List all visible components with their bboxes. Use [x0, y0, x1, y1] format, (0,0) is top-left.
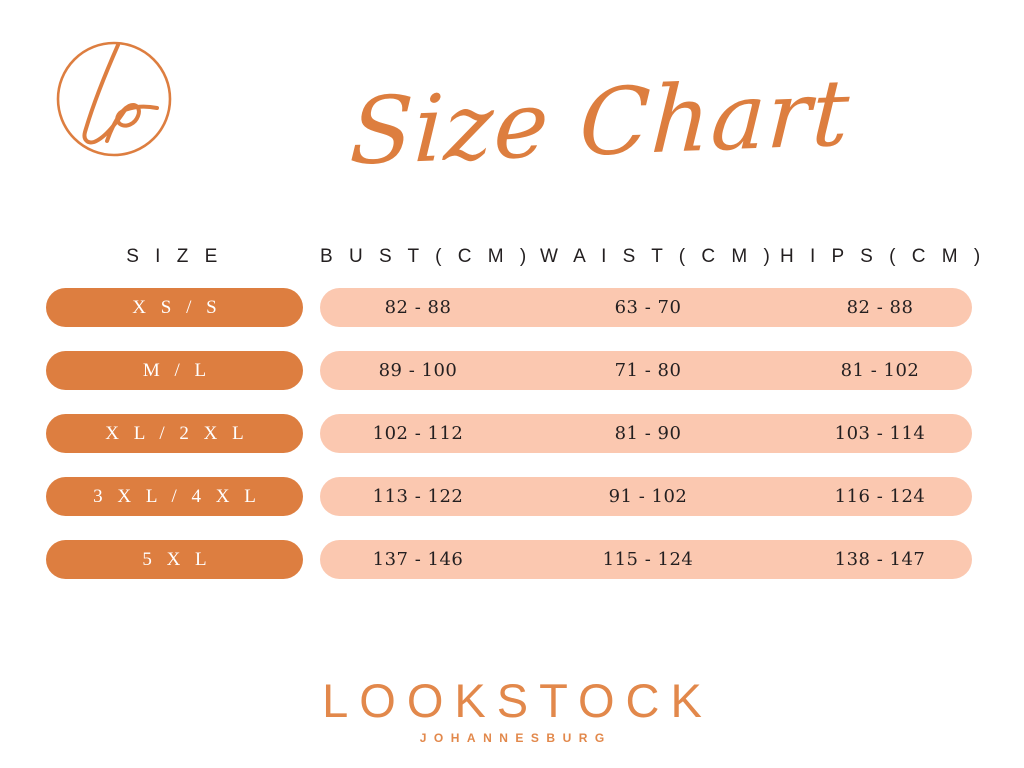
table-row: X L / 2 X L 102 - 112 81 - 90 103 - 114 — [0, 414, 1024, 477]
size-label: M / L — [138, 360, 211, 382]
size-pill: 3 X L / 4 X L — [46, 477, 303, 516]
waist-value: 81 - 90 — [550, 414, 746, 453]
size-label: X S / S — [127, 297, 221, 319]
waist-value: 115 - 124 — [550, 540, 746, 579]
hips-value: 116 - 124 — [782, 477, 978, 516]
bust-value: 113 - 122 — [320, 477, 516, 516]
size-label: 3 X L / 4 X L — [88, 486, 261, 508]
bust-value: 82 - 88 — [320, 288, 516, 327]
brand-location: JOHANNESBURG — [0, 731, 1024, 745]
size-chart-table: S I Z E B U S T ( C M ) W A I S T ( C M … — [0, 236, 1024, 603]
waist-value: 91 - 102 — [550, 477, 746, 516]
circle-monogram-lo-icon — [55, 40, 173, 158]
brand-wordmark: LOOKSTOCK — [0, 676, 1024, 725]
hips-value: 82 - 88 — [782, 288, 978, 327]
size-pill: 5 X L — [46, 540, 303, 579]
table-row: 3 X L / 4 X L 113 - 122 91 - 102 116 - 1… — [0, 477, 1024, 540]
footer: LOOKSTOCK JOHANNESBURG — [0, 676, 1024, 745]
table-row: M / L 89 - 100 71 - 80 81 - 102 — [0, 351, 1024, 414]
table-header-row: S I Z E B U S T ( C M ) W A I S T ( C M … — [0, 236, 1024, 288]
waist-value: 71 - 80 — [550, 351, 746, 390]
column-header-bust: B U S T ( C M ) — [320, 246, 516, 268]
size-label: X L / 2 X L — [100, 423, 248, 445]
hips-value: 103 - 114 — [782, 414, 978, 453]
table-row: 5 X L 137 - 146 115 - 124 138 - 147 — [0, 540, 1024, 603]
column-header-hips: H I P S ( C M ) — [780, 246, 976, 268]
bust-value: 89 - 100 — [320, 351, 516, 390]
size-pill: X S / S — [46, 288, 303, 327]
size-chart-page: Size Chart S I Z E B U S T ( C M ) W A I… — [0, 0, 1024, 768]
page-title-text: Size Chart — [348, 65, 852, 181]
bust-value: 137 - 146 — [320, 540, 516, 579]
hips-value: 138 - 147 — [782, 540, 978, 579]
column-header-waist: W A I S T ( C M ) — [540, 246, 756, 268]
table-body: X S / S 82 - 88 63 - 70 82 - 88 M / L 89… — [0, 288, 1024, 603]
waist-value: 63 - 70 — [550, 288, 746, 327]
size-pill: M / L — [46, 351, 303, 390]
table-row: X S / S 82 - 88 63 - 70 82 - 88 — [0, 288, 1024, 351]
size-label: 5 X L — [137, 549, 211, 571]
brand-logo — [55, 40, 173, 158]
size-pill: X L / 2 X L — [46, 414, 303, 453]
hips-value: 81 - 102 — [782, 351, 978, 390]
bust-value: 102 - 112 — [320, 414, 516, 453]
page-title: Size Chart — [330, 48, 870, 198]
column-header-size: S I Z E — [46, 246, 303, 268]
